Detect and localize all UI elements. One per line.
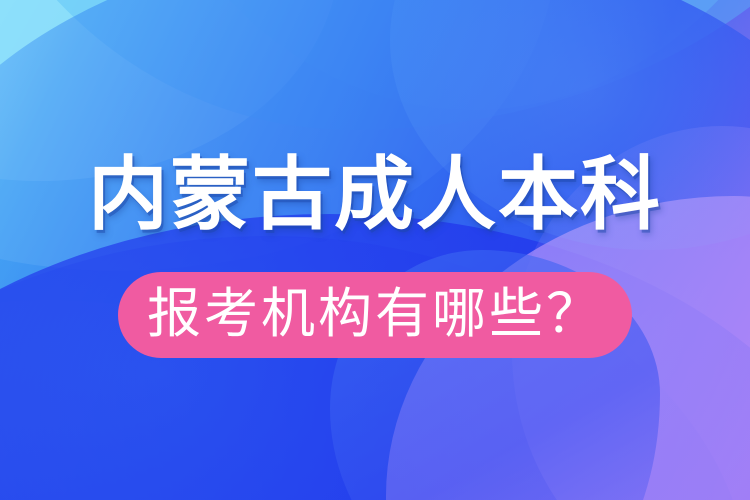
banner-badge-pill: 报考机构有哪些？ bbox=[118, 272, 632, 358]
banner-badge-label: 报考机构有哪些？ bbox=[147, 284, 603, 344]
banner-content: 内蒙古成人本科 报考机构有哪些？ bbox=[0, 0, 750, 500]
banner-headline: 内蒙古成人本科 bbox=[0, 146, 750, 244]
promo-banner: 内蒙古成人本科 报考机构有哪些？ bbox=[0, 0, 750, 500]
